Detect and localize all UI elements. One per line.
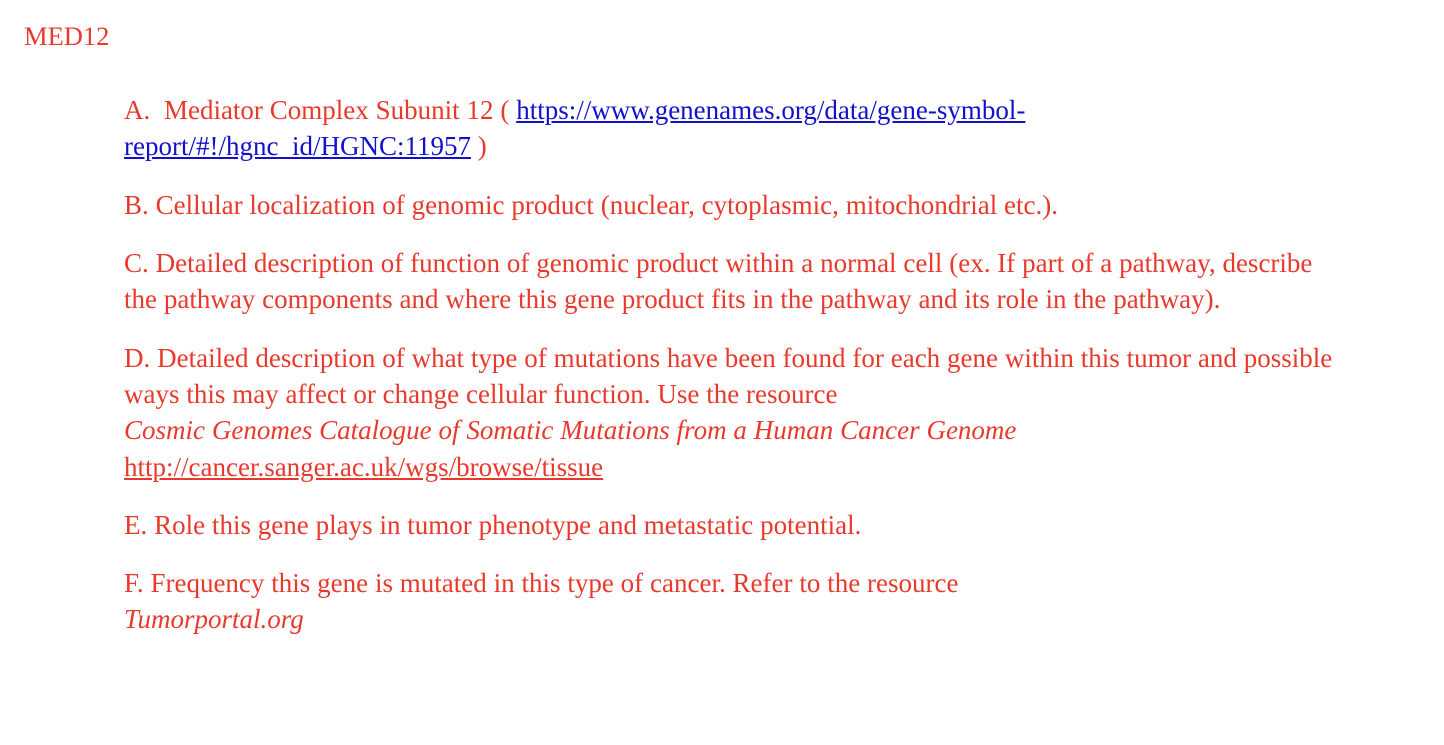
list-item-f: F. Frequency this gene is mutated in thi…: [124, 565, 1184, 638]
list-item-d: D. Detailed description of what type of …: [124, 340, 1352, 485]
item-a-text-tail: ): [471, 131, 487, 161]
cancer-sanger-link[interactable]: http://cancer.sanger.ac.uk/wgs/browse/ti…: [124, 449, 1352, 485]
list-item-b: B. Cellular localization of genomic prod…: [124, 187, 1354, 223]
page-title: MED12: [24, 22, 109, 52]
document-page: MED12 A. Mediator Complex Subunit 12 ( h…: [0, 0, 1444, 745]
list-item-c: C. Detailed description of function of g…: [124, 245, 1346, 318]
tumorportal-resource-title: Tumorportal.org: [124, 601, 1184, 637]
list-item-e: E. Role this gene plays in tumor phenoty…: [124, 507, 1354, 543]
item-a-label: A.: [124, 95, 150, 125]
item-a-text: Mediator Complex Subunit 12 (: [164, 95, 516, 125]
list-item-a: A. Mediator Complex Subunit 12 ( https:/…: [124, 92, 1269, 165]
item-a-label-spacer: [150, 95, 164, 125]
cosmic-resource-title: Cosmic Genomes Catalogue of Somatic Muta…: [124, 412, 1352, 448]
assignment-item-list: A. Mediator Complex Subunit 12 ( https:/…: [124, 92, 1364, 638]
item-d-text: D. Detailed description of what type of …: [124, 343, 1332, 409]
item-f-text: F. Frequency this gene is mutated in thi…: [124, 568, 958, 598]
